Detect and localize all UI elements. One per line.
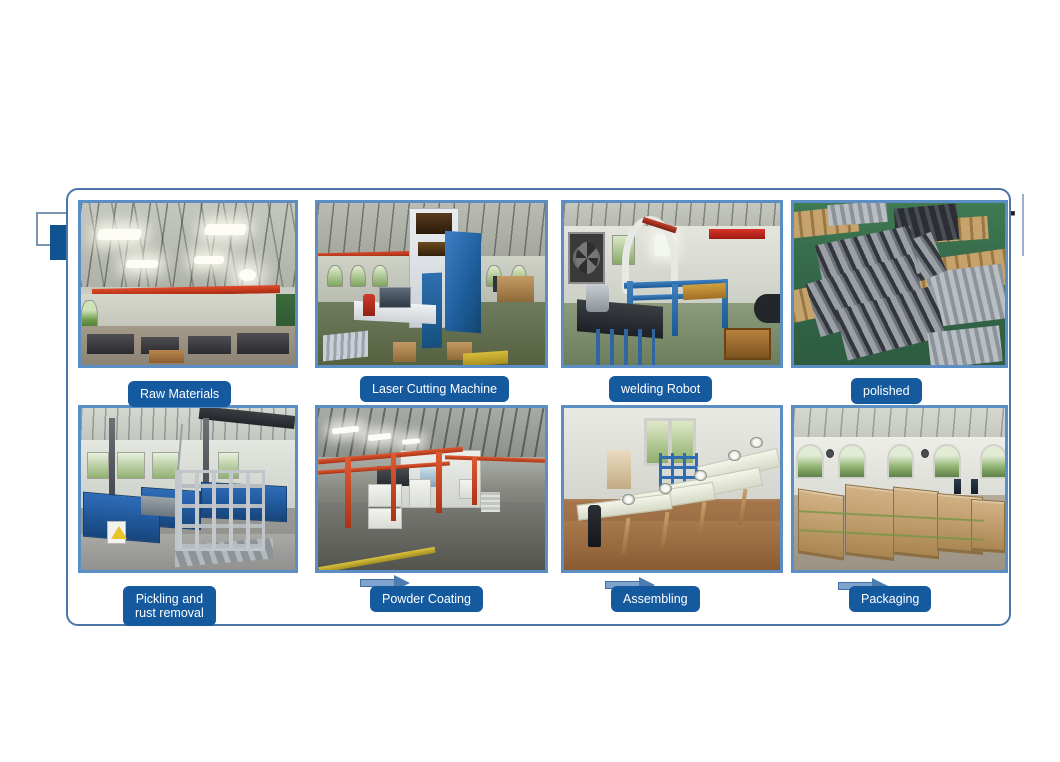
page-header: Production Workflow Chart TOP OST — [0, 98, 1060, 168]
step-photo-packaging — [791, 405, 1008, 573]
workflow-step-laser-cutting[interactable]: Laser Cutting Machine — [315, 200, 548, 404]
workflow-step-raw-materials[interactable]: Raw Materials — [78, 200, 298, 404]
step-label-laser-cutting: Laser Cutting Machine — [360, 376, 509, 402]
step-label-welding-robot: welding Robot — [609, 376, 712, 402]
workflow-frame: Raw Materials — [66, 188, 1011, 626]
workflow-row-1: Raw Materials — [68, 200, 1013, 404]
step-photo-polished — [791, 200, 1008, 368]
workflow-step-welding-robot[interactable]: welding Robot — [561, 200, 783, 404]
step-photo-laser-cutting — [315, 200, 548, 368]
step-photo-assembling — [561, 405, 783, 573]
step-label-raw-materials: Raw Materials — [128, 381, 231, 407]
workflow-step-pickling[interactable]: Pickling and rust removal — [78, 405, 298, 609]
step-label-powder-coating: Powder Coating — [370, 586, 483, 612]
step-label-packaging: Packaging — [849, 586, 931, 612]
step-label-assembling: Assembling — [611, 586, 700, 612]
step-photo-raw-materials — [78, 200, 298, 368]
step-label-polished: polished — [851, 378, 922, 404]
step-label-pickling: Pickling and rust removal — [123, 586, 216, 626]
step-photo-welding-robot — [561, 200, 783, 368]
slide-page: Production Workflow Chart TOP OST — [0, 0, 1060, 762]
workflow-step-powder-coating[interactable]: Powder Coating — [315, 405, 548, 609]
step-photo-pickling — [78, 405, 298, 573]
step-photo-powder-coating — [315, 405, 548, 573]
brand-divider — [1022, 194, 1024, 256]
workflow-step-assembling[interactable]: Assembling — [561, 405, 783, 609]
workflow-step-polished[interactable]: polished — [791, 200, 1008, 404]
workflow-step-packaging[interactable]: Packaging — [791, 405, 1008, 609]
